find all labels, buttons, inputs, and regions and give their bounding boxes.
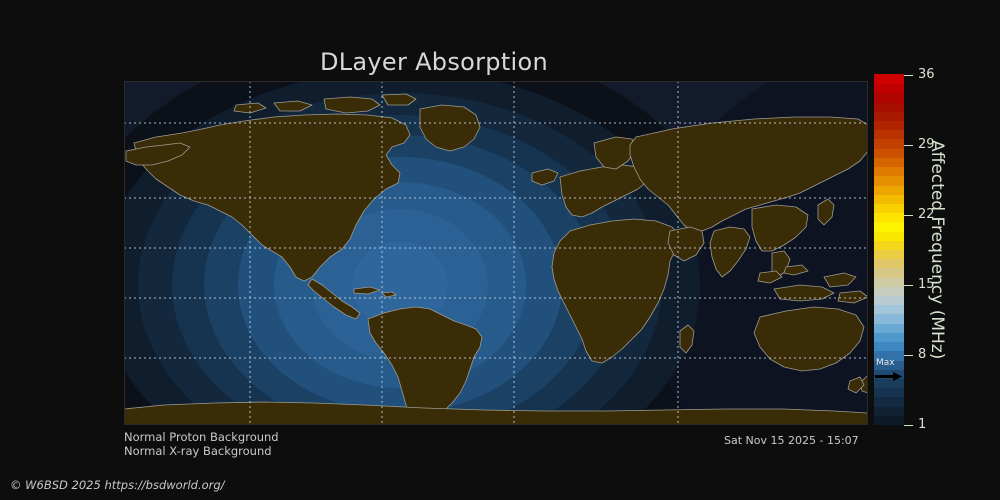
colorbar-segment	[874, 148, 904, 158]
colorbar-segment	[874, 415, 904, 425]
colorbar-axis-label: Affected Frequency (MHz)	[925, 75, 949, 425]
colorbar-segment	[874, 213, 904, 223]
colorbar-tick	[904, 75, 913, 76]
colorbar-tick	[904, 425, 913, 426]
colorbar-tick	[904, 355, 913, 356]
colorbar-segment	[874, 323, 904, 333]
colorbar-segment	[874, 176, 904, 186]
page-title: DLayer Absorption	[0, 48, 868, 76]
world-map-svg	[124, 81, 868, 425]
colorbar-segment	[874, 249, 904, 259]
colorbar-segment	[874, 194, 904, 204]
colorbar-segment	[874, 406, 904, 416]
colorbar-segment	[874, 74, 904, 84]
timestamp: Sat Nov 15 2025 - 15:07	[724, 434, 859, 447]
colorbar-segment	[874, 93, 904, 103]
colorbar-segment	[874, 268, 904, 278]
colorbar-segment	[874, 157, 904, 167]
colorbar-tick	[904, 215, 913, 216]
colorbar-segment	[874, 240, 904, 250]
proton-status: Normal Proton Background	[124, 430, 279, 444]
app-root: DLayer Absorption	[0, 0, 1000, 500]
colorbar-segment	[874, 111, 904, 121]
xray-status: Normal X-ray Background	[124, 444, 272, 458]
colorbar-segment	[874, 314, 904, 324]
colorbar-segment	[874, 222, 904, 232]
copyright-notice: © W6BSD 2025 https://bsdworld.org/	[10, 478, 225, 492]
colorbar-segment	[874, 139, 904, 149]
colorbar-segment	[874, 102, 904, 112]
colorbar-segment	[874, 277, 904, 287]
colorbar-segment	[874, 167, 904, 177]
colorbar-segment	[874, 84, 904, 94]
colorbar-segment	[874, 130, 904, 140]
colorbar-segment	[874, 286, 904, 296]
colorbar-segment	[874, 388, 904, 398]
colorbar-segment	[874, 397, 904, 407]
world-map[interactable]	[124, 81, 868, 425]
colorbar-max-label: Max	[876, 358, 895, 368]
max-arrow-icon	[875, 372, 902, 381]
colorbar-segment	[874, 203, 904, 213]
colorbar-segment	[874, 332, 904, 342]
colorbar-segment	[874, 120, 904, 130]
colorbar-tick	[904, 145, 913, 146]
colorbar-segment	[874, 342, 904, 352]
colorbar-segment	[874, 231, 904, 241]
colorbar-tick	[904, 285, 913, 286]
colorbar-segment	[874, 185, 904, 195]
colorbar-segment	[874, 305, 904, 315]
colorbar-segment	[874, 259, 904, 269]
colorbar-segment	[874, 295, 904, 305]
colorbar-max-marker: Max	[874, 358, 904, 384]
